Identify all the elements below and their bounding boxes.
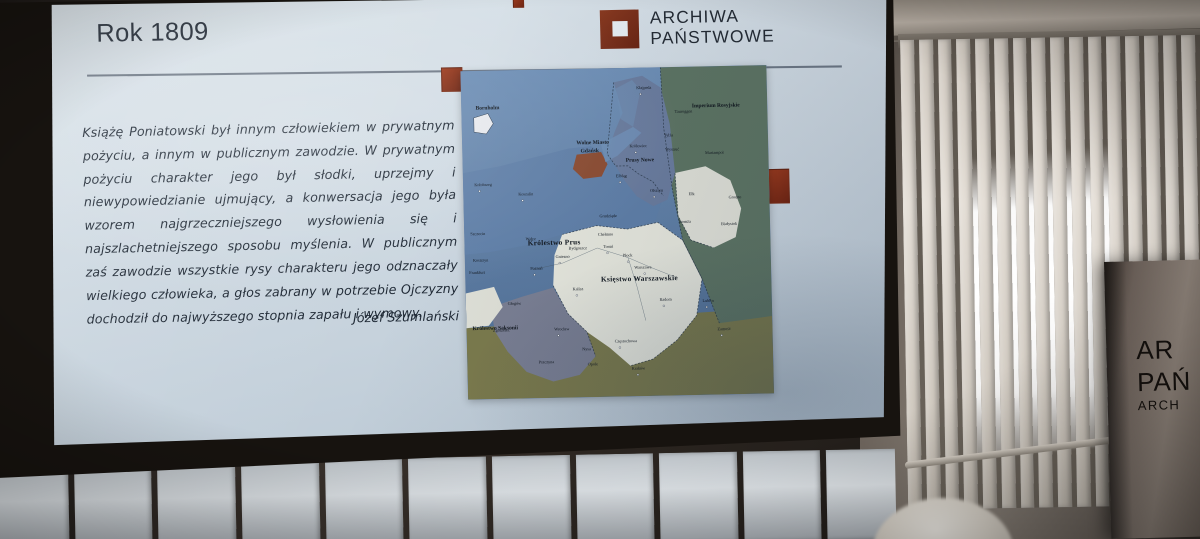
- banner-line-2: PAŃ: [1137, 365, 1192, 398]
- svg-text:Kraków: Kraków: [632, 365, 646, 370]
- svg-text:Księstwo Warszawskie: Księstwo Warszawskie: [601, 273, 679, 284]
- svg-text:Prusy Nowe: Prusy Nowe: [626, 157, 655, 164]
- blind-slat-lower: [241, 460, 321, 539]
- svg-text:Wystruć: Wystruć: [665, 146, 679, 151]
- svg-text:Częstochowa: Częstochowa: [615, 338, 638, 343]
- svg-text:Lublin: Lublin: [702, 298, 714, 303]
- svg-text:Kołobrzeg: Kołobrzeg: [474, 182, 492, 187]
- svg-text:Zamość: Zamość: [717, 326, 730, 331]
- svg-text:Płock: Płock: [623, 252, 634, 257]
- svg-text:Szczecin: Szczecin: [470, 231, 486, 236]
- svg-text:Pszczyna: Pszczyna: [539, 359, 555, 364]
- svg-text:Warszawa: Warszawa: [634, 264, 651, 269]
- svg-text:Zgorzelec: Zgorzelec: [493, 327, 510, 332]
- svg-text:Kalisz: Kalisz: [573, 286, 584, 291]
- svg-text:Kłajpeda: Kłajpeda: [636, 85, 651, 90]
- svg-text:Gniezno: Gniezno: [556, 254, 570, 259]
- logo-square-icon: [600, 9, 640, 49]
- presentation-slide: Rok 1809 ARCHIWA PAŃSTWOWE Książę Poniat…: [50, 0, 888, 446]
- logo-line-2: PAŃSTWOWE: [650, 26, 775, 48]
- blind-slat-lower: [659, 452, 739, 539]
- svg-text:Opole: Opole: [588, 361, 598, 366]
- blind-slat-lower: [492, 455, 572, 539]
- svg-text:Grodno: Grodno: [729, 194, 742, 199]
- svg-text:Białystok: Białystok: [721, 221, 738, 226]
- blind-slat-lower: [743, 450, 823, 539]
- blind-slat-lower: [575, 453, 655, 539]
- quote-text: Książę Poniatowski był innym człowiekiem…: [82, 114, 459, 331]
- svg-text:Imperium Rosyjskie: Imperium Rosyjskie: [692, 102, 741, 109]
- svg-text:Wałcz: Wałcz: [525, 236, 536, 241]
- svg-text:Toruń: Toruń: [603, 244, 614, 249]
- svg-text:Ełk: Ełk: [689, 191, 696, 196]
- svg-text:Nysa: Nysa: [582, 346, 591, 351]
- banner-text: AR PAŃ ARCH: [1136, 334, 1192, 415]
- room-photo: AR PAŃ ARCH Rok 1809 ARCHIWA PAŃSTWOWE: [0, 0, 1200, 539]
- logo-wordmark: ARCHIWA PAŃSTWOWE: [650, 6, 775, 48]
- svg-text:Chełmno: Chełmno: [598, 231, 613, 236]
- accent-square-top: [513, 0, 524, 8]
- blind-slat-lower: [324, 458, 404, 539]
- svg-text:Królewiec: Królewiec: [629, 143, 647, 148]
- accent-square-right: [767, 169, 790, 204]
- svg-text:Tylża: Tylża: [664, 132, 673, 137]
- svg-text:Gdańsk: Gdańsk: [581, 148, 600, 154]
- projection-screen-frame: Rok 1809 ARCHIWA PAŃSTWOWE Książę Poniat…: [0, 0, 904, 480]
- projection-screen[interactable]: Rok 1809 ARCHIWA PAŃSTWOWE Książę Poniat…: [50, 0, 888, 446]
- page-title: Rok 1809: [96, 17, 209, 49]
- historical-map-1809: Królestwo Prus Księstwo Warszawskie Impe…: [460, 65, 774, 399]
- svg-text:Elbląg: Elbląg: [616, 173, 627, 178]
- svg-text:Kostrzyn: Kostrzyn: [473, 257, 489, 262]
- banner-line-3: ARCH: [1138, 397, 1192, 414]
- banner-line-1: AR: [1136, 334, 1191, 367]
- blind-slat-lower: [74, 463, 154, 539]
- svg-text:Wrocław: Wrocław: [554, 326, 569, 331]
- svg-text:Łomża: Łomża: [679, 219, 691, 224]
- svg-text:Grudziądz: Grudziądz: [599, 213, 617, 218]
- rollup-banner: AR PAŃ ARCH: [1104, 259, 1200, 538]
- svg-text:Mariampol: Mariampol: [705, 150, 724, 155]
- svg-text:Głogów: Głogów: [508, 301, 522, 306]
- svg-text:Bornholm: Bornholm: [475, 105, 499, 111]
- blind-slat-lower: [408, 456, 488, 539]
- svg-text:Wolne Miasto: Wolne Miasto: [576, 140, 609, 147]
- svg-text:Olsztyn: Olsztyn: [650, 188, 664, 193]
- blind-slat-lower: [157, 461, 237, 539]
- svg-text:Poznań: Poznań: [530, 266, 543, 271]
- svg-text:Tauroggen: Tauroggen: [675, 108, 694, 113]
- archiwa-panstwowe-logo: ARCHIWA PAŃSTWOWE: [600, 6, 775, 49]
- logo-line-1: ARCHIWA: [650, 6, 775, 28]
- svg-text:Radom: Radom: [660, 297, 673, 302]
- svg-text:Bydgoszcz: Bydgoszcz: [569, 245, 588, 250]
- svg-text:Koszalin: Koszalin: [518, 191, 534, 196]
- svg-text:Frankfurt: Frankfurt: [469, 270, 486, 275]
- map-svg: Królestwo Prus Księstwo Warszawskie Impe…: [460, 65, 774, 399]
